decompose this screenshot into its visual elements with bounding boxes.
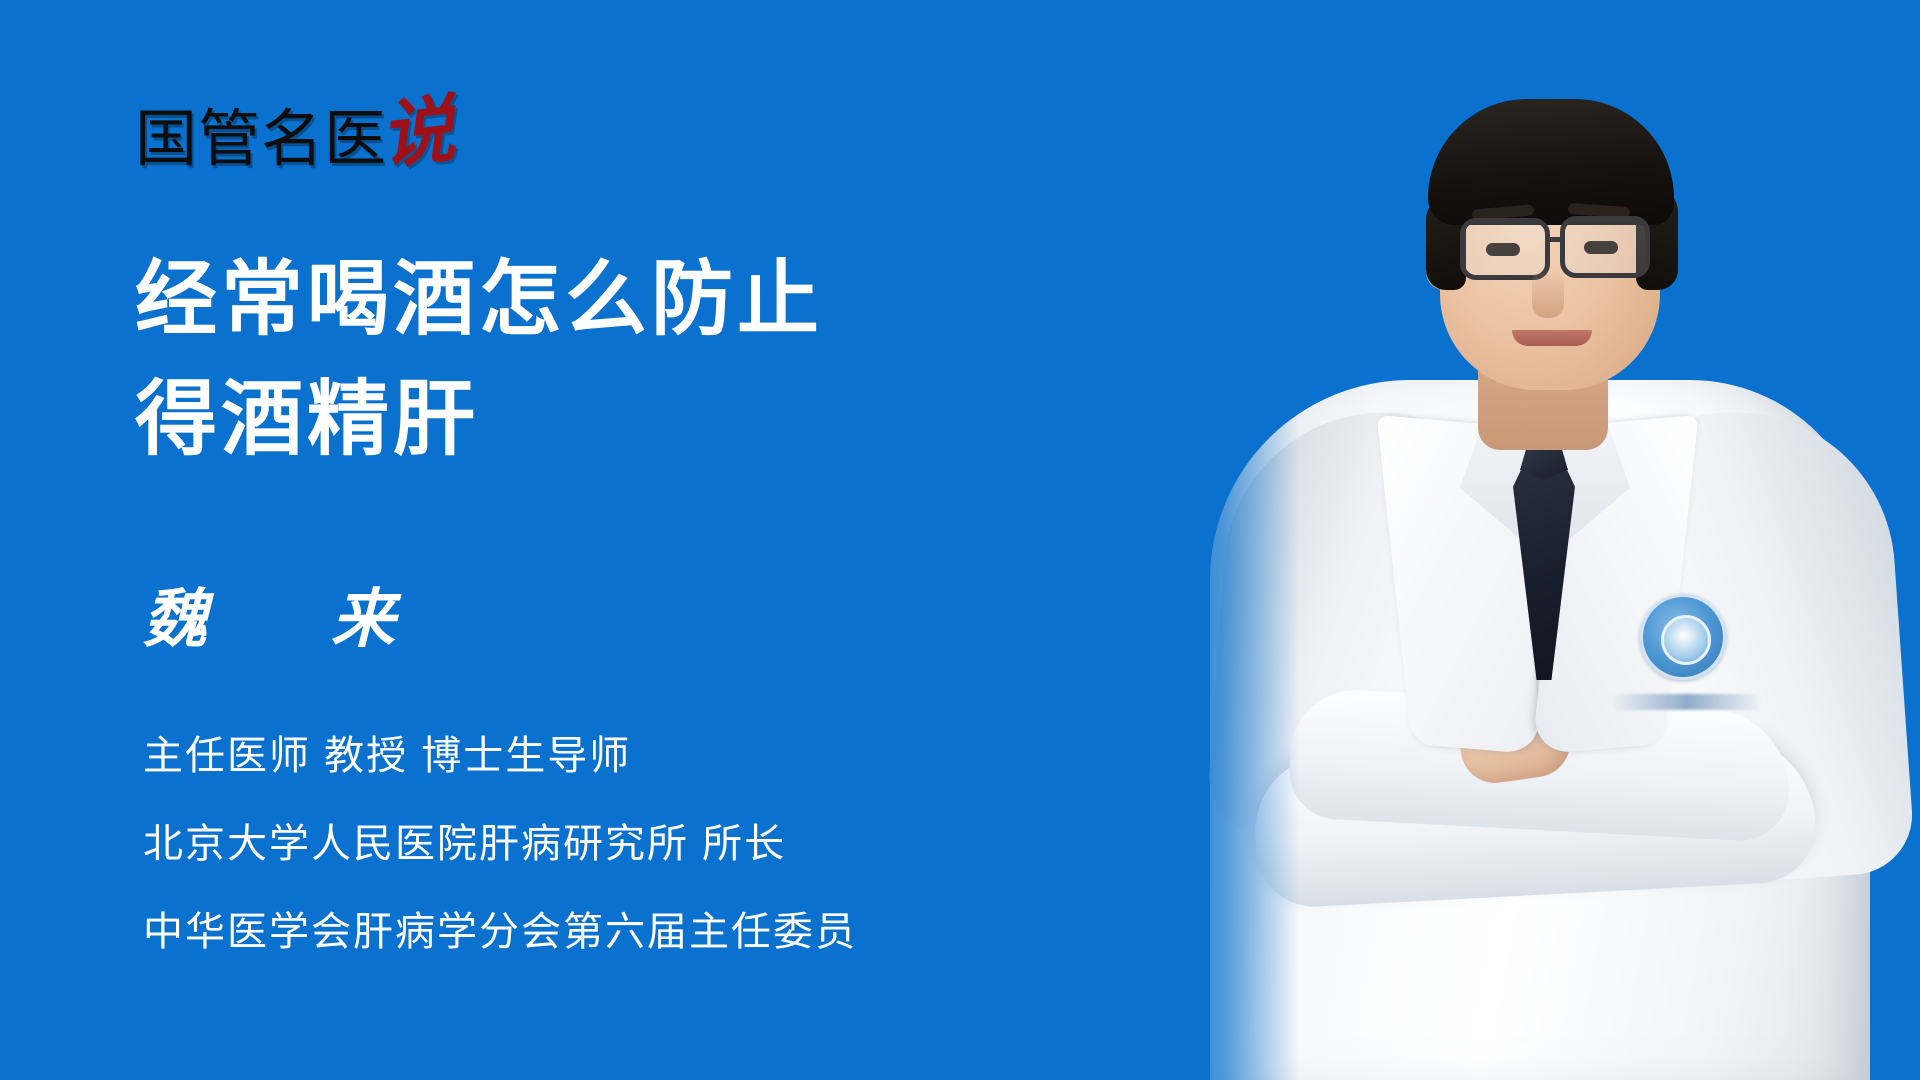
mouth xyxy=(1512,330,1592,346)
eyeglasses-bridge xyxy=(1548,237,1564,242)
nose xyxy=(1532,268,1564,318)
credential-line-2: 北京大学人民医院肝病研究所 所长 xyxy=(143,800,857,888)
credential-line-3: 中华医学会肝病学分会第六届主任委员 xyxy=(143,888,857,976)
page-title: 经常喝酒怎么防止 得酒精肝 xyxy=(135,240,823,480)
speaker-name: 魏 来 xyxy=(143,580,425,660)
hospital-emblem-icon xyxy=(1640,594,1726,680)
title-line-2: 得酒精肝 xyxy=(135,360,823,480)
program-logo-accent-text: 说 xyxy=(377,98,457,167)
eyeglasses-lens-right xyxy=(1560,216,1650,278)
credential-line-1: 主任医师 教授 博士生导师 xyxy=(143,712,857,800)
hospital-emblem-inner xyxy=(1661,615,1711,665)
program-logo-main-text: 国管名医 xyxy=(135,108,387,170)
hair xyxy=(1428,99,1674,225)
program-logo: 国管名医 说 xyxy=(135,98,455,170)
speaker-portrait xyxy=(1160,0,1920,1080)
title-line-1: 经常喝酒怎么防止 xyxy=(135,240,823,360)
video-title-card: 国管名医 说 经常喝酒怎么防止 得酒精肝 魏 来 主任医师 教授 博士生导师 北… xyxy=(0,0,1920,1080)
speaker-credentials: 主任医师 教授 博士生导师 北京大学人民医院肝病研究所 所长 中华医学会肝病学分… xyxy=(143,712,857,976)
text-column: 国管名医 说 经常喝酒怎么防止 得酒精肝 魏 来 主任医师 教授 博士生导师 北… xyxy=(135,0,1235,1080)
coat-emblem-text xyxy=(1612,694,1762,710)
